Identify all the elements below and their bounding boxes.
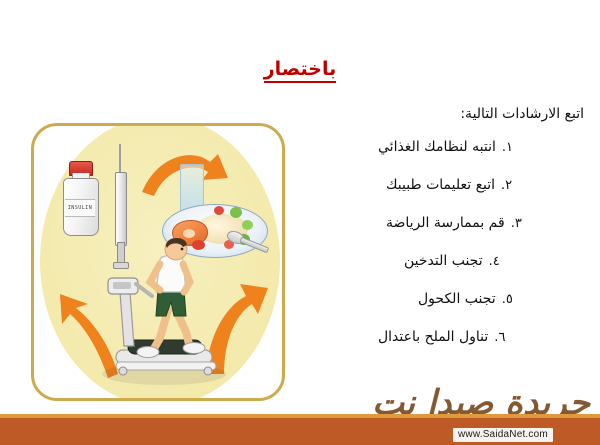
list-item-number: ٢. — [501, 177, 512, 195]
watermark-url: www.SaidaNet.com — [453, 428, 553, 442]
vegetable — [230, 207, 242, 218]
illustration-panel: INSULIN — [31, 123, 285, 401]
list-item-number: ٦. — [494, 329, 505, 347]
list-item: ٣. قم بممارسة الرياضة — [378, 214, 588, 233]
list-item: ١. انتبه لنظامك الغذائي — [378, 138, 588, 157]
vial-label: INSULIN — [65, 199, 95, 217]
page-title-text: باختصار — [264, 58, 337, 83]
list-item-number: ٥. — [502, 291, 513, 309]
list-item-number: ٤. — [489, 253, 500, 271]
syringe-needle — [119, 144, 121, 174]
treadmill-runner-icon — [90, 234, 240, 384]
guidelines-list: ١. انتبه لنظامك الغذائي ٢. اتبع تعليمات … — [378, 138, 588, 347]
slide-image: باختصار اتبع الارشادات التالية: ١. انتبه… — [0, 0, 600, 445]
list-item-label: تجنب الكحول — [418, 290, 496, 308]
list-item: ٥. تجنب الكحول — [378, 290, 588, 309]
list-item-label: تناول الملح باعتدال — [378, 328, 488, 346]
list-item-number: ٣. — [511, 215, 522, 233]
page-title: باختصار — [0, 58, 600, 83]
insulin-vial-icon: INSULIN — [60, 161, 100, 235]
list-item: ٢. اتبع تعليمات طبيبك — [378, 176, 588, 195]
guidelines-heading: اتبع الارشادات التالية: — [378, 104, 588, 124]
guidelines-panel: اتبع الارشادات التالية: ١. انتبه لنظامك … — [378, 104, 588, 347]
list-item: ٤. تجنب التدخين — [378, 252, 588, 271]
list-item: ٦. تناول الملح باعتدال — [378, 328, 588, 347]
list-item-label: اتبع تعليمات طبيبك — [386, 176, 495, 194]
list-item-label: قم بممارسة الرياضة — [386, 214, 505, 232]
vegetable — [214, 206, 224, 215]
list-item-number: ١. — [502, 139, 513, 157]
vegetable — [242, 220, 253, 230]
list-item-label: انتبه لنظامك الغذائي — [378, 138, 496, 156]
list-item-label: تجنب التدخين — [404, 252, 483, 270]
